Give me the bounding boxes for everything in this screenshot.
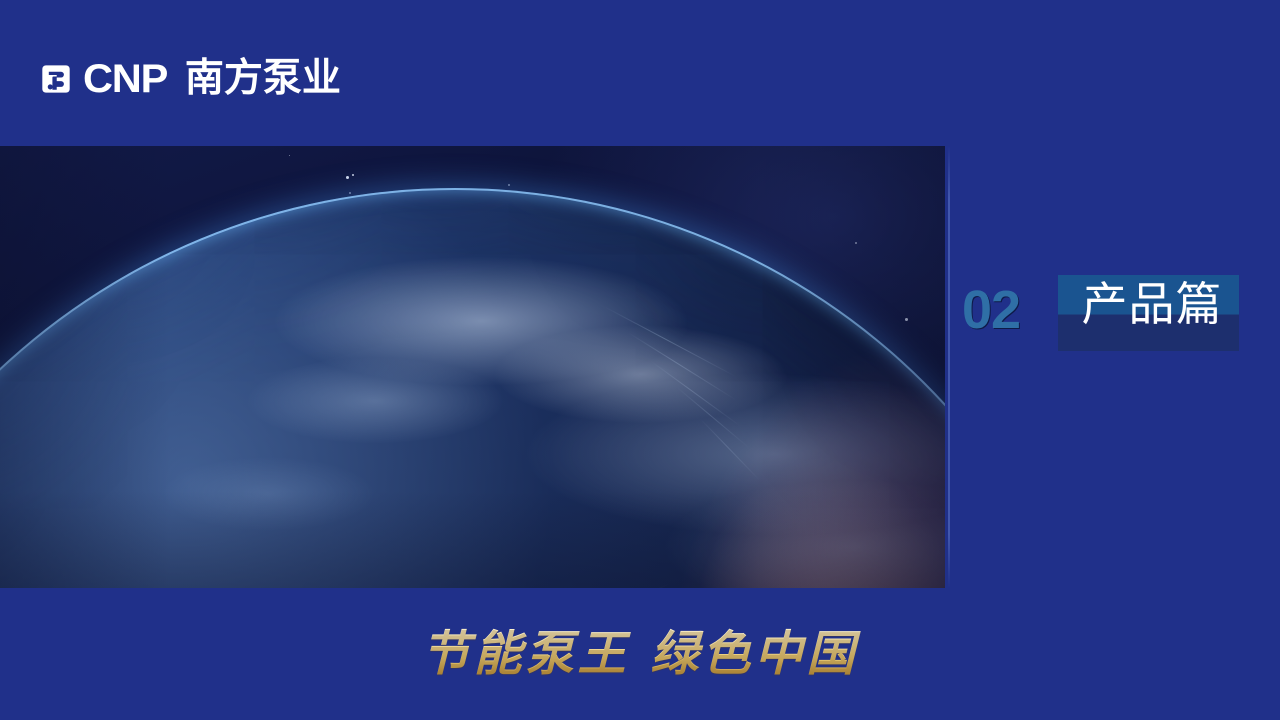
- earth-image-panel: [0, 146, 945, 588]
- section-number: 02: [962, 283, 1020, 337]
- cnp-logo-mark-icon: [38, 61, 74, 97]
- brand-logo: CNP 南方泵业: [38, 56, 341, 102]
- section-title-block: 02 产品篇: [950, 146, 1280, 588]
- footer-slogan: 节能泵王 绿色中国: [0, 626, 1280, 682]
- section-title: 产品篇: [1062, 273, 1242, 335]
- footer-band: 节能泵王 绿色中国: [0, 588, 1280, 720]
- header-band: CNP 南方泵业: [0, 0, 1280, 146]
- logo-wordmark-latin: CNP: [83, 59, 167, 99]
- presentation-slide: CNP 南方泵业: [0, 0, 1280, 720]
- logo-wordmark-chinese: 南方泵业: [185, 59, 341, 99]
